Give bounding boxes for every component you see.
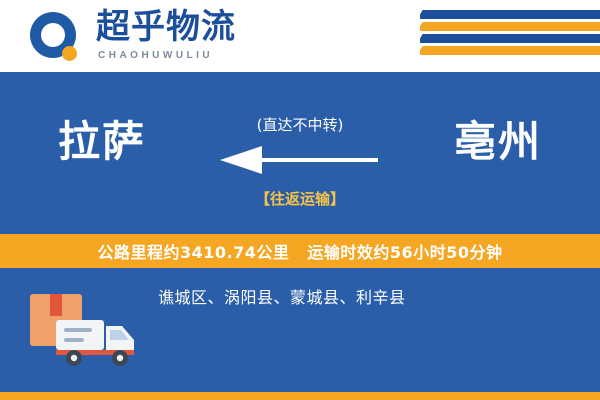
logistics-route-poster: 超乎物流 CHAOHUWULIU 拉萨 亳州 (直达不中转) 【往返运输】 公路… xyxy=(0,0,600,400)
round-trip-label: 【往返运输】 xyxy=(255,188,345,209)
stripe-2 xyxy=(420,22,600,31)
footer-accent-bar xyxy=(0,392,600,400)
stats-band: 公路里程约3410.74公里 运输时效约56小时50分钟 xyxy=(0,234,600,268)
duration-text: 运输时效约56小时50分钟 xyxy=(307,239,502,263)
route-panel: 拉萨 亳州 (直达不中转) 【往返运输】 xyxy=(0,72,600,234)
double-arrow-icon xyxy=(220,144,380,178)
delivery-truck-icon xyxy=(28,282,148,374)
circle-logo-icon xyxy=(30,12,84,66)
origin-city: 拉萨 xyxy=(58,114,146,170)
brand-pinyin: CHAOHUWULIU xyxy=(98,50,213,61)
coverage-areas-text: 谯城区、涡阳县、蒙城县、利辛县 xyxy=(158,284,406,308)
destination-city: 亳州 xyxy=(454,114,542,170)
logo-dot-shape xyxy=(62,46,77,61)
brand-name: 超乎物流 xyxy=(96,8,236,46)
coverage-panel: 谯城区、涡阳县、蒙城县、利辛县 xyxy=(0,268,600,392)
stripe-3 xyxy=(420,34,600,43)
header: 超乎物流 CHAOHUWULIU xyxy=(0,0,600,72)
stripe-4 xyxy=(420,46,600,55)
logo-ring-inner-shape xyxy=(41,23,65,47)
header-stripes-decoration xyxy=(420,8,600,64)
distance-text: 公路里程约3410.74公里 xyxy=(98,239,290,263)
stripe-1 xyxy=(420,10,600,19)
direct-shipping-label: (直达不中转) xyxy=(257,114,344,135)
